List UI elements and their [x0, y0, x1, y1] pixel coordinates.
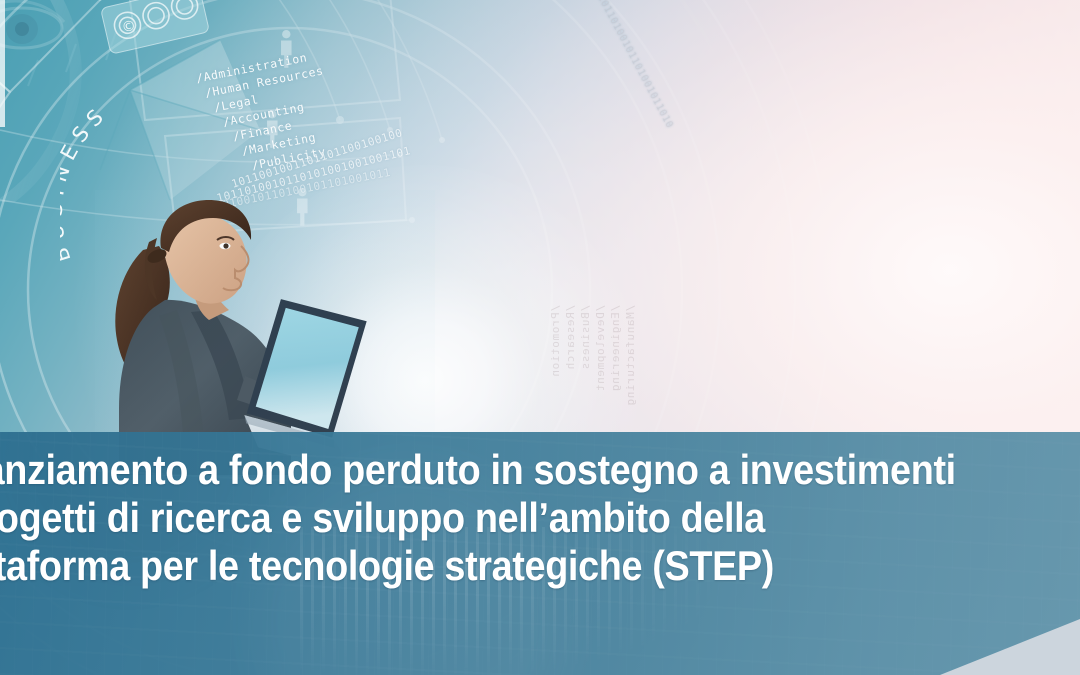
headline-line-3: piattaforma per le tecnologie strategich…	[0, 542, 972, 590]
banner-headline: Finanziamento a fondo perduto in sostegn…	[0, 446, 972, 590]
headline-banner: Finanziamento a fondo perduto in sostegn…	[0, 432, 1080, 675]
promo-banner-image: BUSINESS © /Administration /Human Resour…	[0, 0, 1080, 675]
left-edge-strip	[0, 0, 5, 127]
headline-line-2: e progetti di ricerca e sviluppo nell’am…	[0, 494, 972, 542]
headline-line-1: Finanziamento a fondo perduto in sostegn…	[0, 446, 972, 494]
copyright-glyph: ©	[120, 18, 137, 37]
